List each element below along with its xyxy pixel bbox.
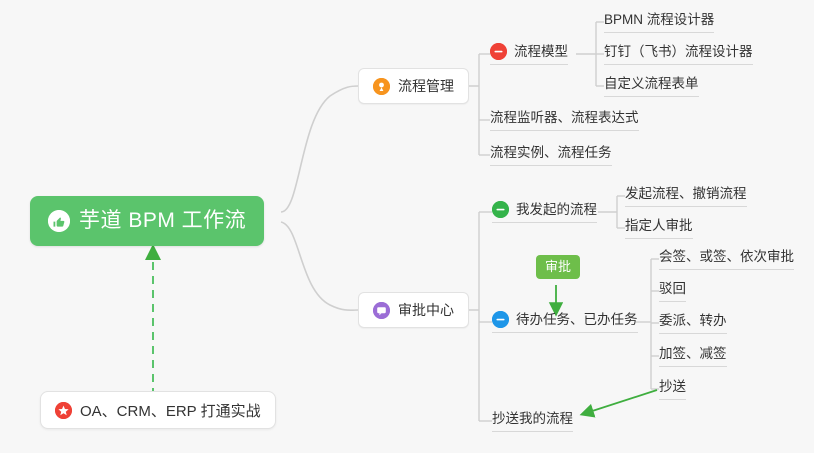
node-label: 驳回 <box>659 278 686 300</box>
node-cc-to-me[interactable]: 抄送我的流程 <box>492 410 573 432</box>
branch-label: 流程管理 <box>398 76 454 96</box>
root-node[interactable]: 芋道 BPM 工作流 <box>30 196 264 246</box>
annotation-label: OA、CRM、ERP 打通实战 <box>80 400 261 421</box>
node-todo-done-tasks[interactable]: 待办任务、已办任务 <box>492 311 638 333</box>
node-label: 自定义流程表单 <box>604 73 699 95</box>
branch-node-approval-center[interactable]: 审批中心 <box>358 292 469 328</box>
node-label: 流程模型 <box>514 41 568 63</box>
node-add-remove-sign[interactable]: 加签、减签 <box>659 345 727 367</box>
node-label: BPMN 流程设计器 <box>604 9 714 31</box>
node-instance-task[interactable]: 流程实例、流程任务 <box>490 144 612 166</box>
minus-circle-icon <box>492 201 509 218</box>
branch-label: 审批中心 <box>398 300 454 320</box>
node-label: 流程实例、流程任务 <box>490 142 612 164</box>
node-my-initiated-process[interactable]: 我发起的流程 <box>492 201 597 223</box>
node-label: 会签、或签、依次审批 <box>659 246 794 268</box>
thumbs-up-icon <box>48 210 70 232</box>
node-label: 钉钉（飞书）流程设计器 <box>604 41 753 63</box>
root-label: 芋道 BPM 工作流 <box>79 196 246 246</box>
node-reject[interactable]: 驳回 <box>659 280 686 302</box>
branch-node-process-management[interactable]: 流程管理 <box>358 68 469 104</box>
annotation-integration-callout[interactable]: OA、CRM、ERP 打通实战 <box>40 391 276 429</box>
node-cc[interactable]: 抄送 <box>659 378 686 400</box>
node-process-model[interactable]: 流程模型 <box>490 43 568 65</box>
node-custom-form[interactable]: 自定义流程表单 <box>604 75 699 97</box>
star-circle-icon <box>55 402 72 419</box>
mindmap-canvas: 芋道 BPM 工作流 流程管理 流程模型 BPMN 流程设计器 钉钉（飞书）流程… <box>0 0 814 453</box>
node-label: 委派、转办 <box>659 310 727 332</box>
node-label: 流程监听器、流程表达式 <box>490 107 639 129</box>
node-delegate-transfer[interactable]: 委派、转办 <box>659 312 727 334</box>
node-label: 指定人审批 <box>625 215 693 237</box>
node-listener-expression[interactable]: 流程监听器、流程表达式 <box>490 109 639 131</box>
node-label: 抄送 <box>659 376 686 398</box>
minus-circle-icon <box>490 43 507 60</box>
node-label: 我发起的流程 <box>516 199 597 221</box>
chat-circle-icon <box>373 302 390 319</box>
node-assign-approver[interactable]: 指定人审批 <box>625 217 693 239</box>
node-countersign[interactable]: 会签、或签、依次审批 <box>659 248 794 270</box>
node-label: 抄送我的流程 <box>492 408 573 430</box>
annotation-approval-tag: 审批 <box>536 255 580 279</box>
location-pin-icon <box>373 78 390 95</box>
node-dingtalk-designer[interactable]: 钉钉（飞书）流程设计器 <box>604 43 753 65</box>
node-label: 加签、减签 <box>659 343 727 365</box>
node-label: 待办任务、已办任务 <box>516 309 638 331</box>
node-bpmn-designer[interactable]: BPMN 流程设计器 <box>604 11 714 33</box>
node-label: 发起流程、撤销流程 <box>625 183 747 205</box>
node-start-cancel-process[interactable]: 发起流程、撤销流程 <box>625 185 747 207</box>
minus-circle-icon <box>492 311 509 328</box>
annotation-label: 审批 <box>536 255 580 279</box>
